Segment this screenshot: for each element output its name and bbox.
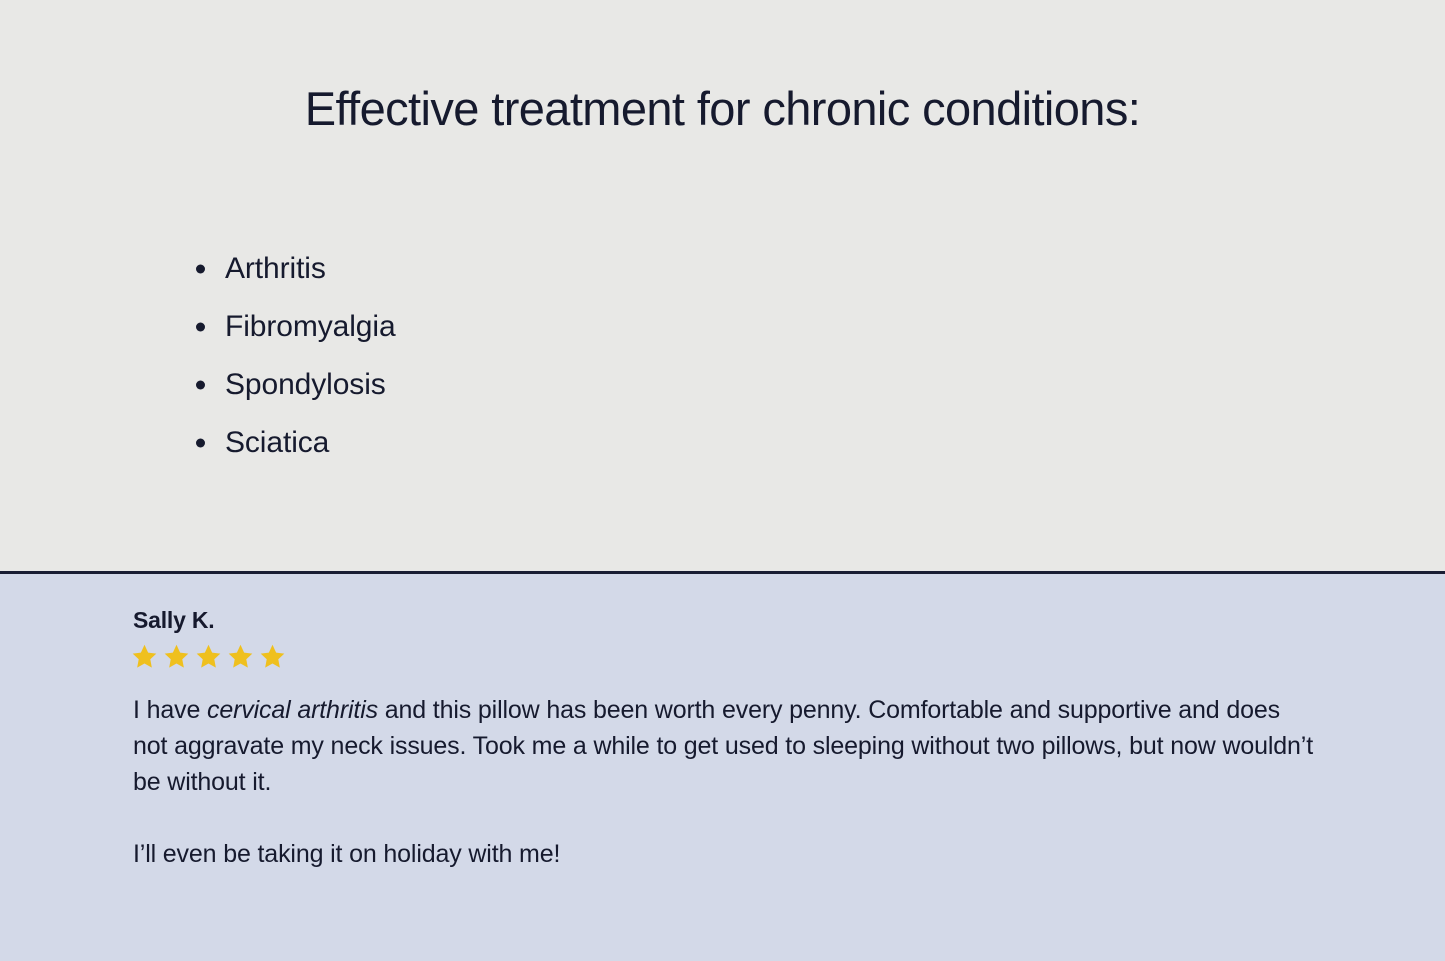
customer-review-panel: Sally K. (0, 574, 1445, 961)
conditions-list-left: Arthritis Fibromyalgia Spondylosis Sciat… (196, 240, 613, 472)
condition-label: Arthritis (225, 252, 326, 285)
conditions-panel: Effective treatment for chronic conditio… (0, 0, 1445, 574)
condition-label: Spondylosis (225, 368, 386, 401)
star-icon (131, 643, 158, 670)
bullet-icon (196, 381, 205, 390)
review-text-lead: I have (133, 696, 207, 724)
bullet-icon (196, 323, 205, 332)
star-icon (259, 643, 286, 670)
page-title: Effective treatment for chronic conditio… (0, 81, 1445, 136)
condition-label: Fibromyalgia (225, 310, 396, 343)
star-icon (195, 643, 222, 670)
star-icon (227, 643, 254, 670)
star-icon (163, 643, 190, 670)
bullet-icon (196, 265, 205, 274)
conditions-column-left: Arthritis Fibromyalgia Spondylosis Sciat… (0, 240, 613, 472)
conditions-column-right: Scoliosis Whiplash Spondylitis Spinal co… (613, 240, 1445, 472)
bullet-icon (196, 439, 205, 448)
review-text-emphasis: cervical arthritis (207, 696, 378, 724)
list-item: Arthritis (196, 240, 613, 298)
star-rating (131, 643, 1445, 670)
conditions-columns: Arthritis Fibromyalgia Spondylosis Sciat… (0, 240, 1445, 472)
review-paragraph-1: I have cervical arthritis and this pillo… (133, 692, 1318, 800)
page-root: Effective treatment for chronic conditio… (0, 0, 1445, 961)
list-item: Spondylosis (196, 356, 613, 414)
list-item: Fibromyalgia (196, 298, 613, 356)
review-body: I have cervical arthritis and this pillo… (133, 692, 1318, 872)
condition-label: Sciatica (225, 426, 329, 459)
list-item: Sciatica (196, 414, 613, 472)
review-paragraph-2: I’ll even be taking it on holiday with m… (133, 836, 1318, 872)
reviewer-name: Sally K. (133, 607, 1445, 634)
